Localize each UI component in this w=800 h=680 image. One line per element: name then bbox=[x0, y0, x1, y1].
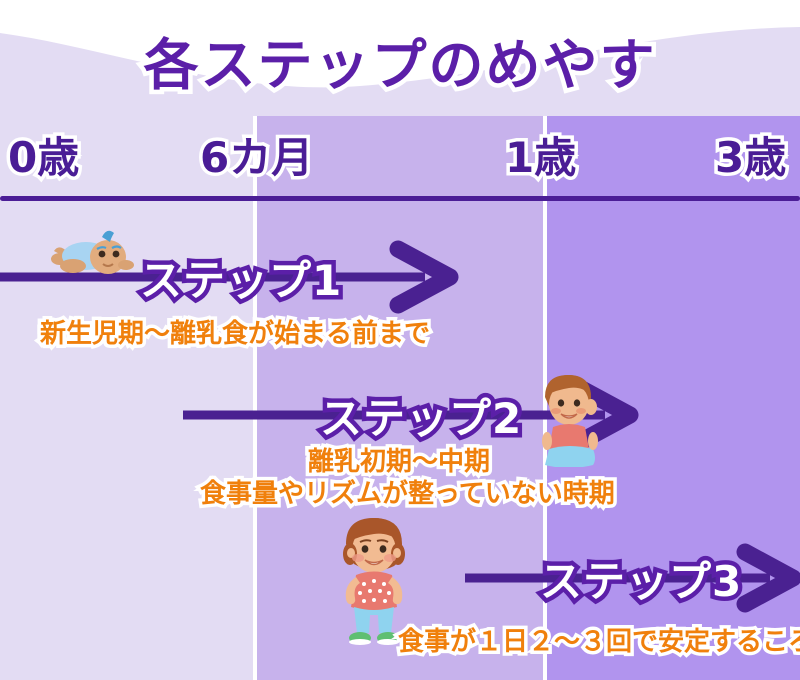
step2-label: ステップ2 bbox=[320, 385, 522, 446]
age-label-1year: 1歳 bbox=[505, 120, 576, 196]
step1-label: ステップ1 bbox=[140, 247, 342, 308]
age-label-0: 0歳 bbox=[8, 120, 79, 196]
age-label-3years: 3歳 bbox=[715, 120, 786, 196]
step2-caption-line2: 食事量やリズムが整っていない時期 bbox=[200, 473, 615, 510]
axis-rule bbox=[0, 196, 800, 201]
step3-caption: 食事が１日２〜３回で安定するころ bbox=[398, 621, 800, 658]
baby-lying-icon bbox=[40, 223, 140, 285]
age-label-6months: 6カ月 bbox=[200, 120, 313, 196]
infographic-root: 各ステップのめやす 0歳 6カ月 1歳 3歳 bbox=[0, 0, 800, 680]
step-row-1: ステップ1 新生児期〜離乳食が始まる前まで bbox=[0, 225, 800, 355]
step-row-3: ステップ3 食事が１日２〜３回で安定するころ bbox=[0, 528, 800, 668]
step1-caption: 新生児期〜離乳食が始まる前まで bbox=[40, 313, 430, 350]
step-row-2: ステップ2 離乳初期〜中期 食事量やリズムが整っていない時期 bbox=[0, 375, 800, 510]
age-axis-labels: 0歳 6カ月 1歳 3歳 bbox=[0, 120, 800, 196]
step3-label: ステップ3 bbox=[540, 548, 742, 609]
page-title: 各ステップのめやす bbox=[0, 20, 800, 100]
toddler-sitting-icon bbox=[533, 367, 607, 467]
